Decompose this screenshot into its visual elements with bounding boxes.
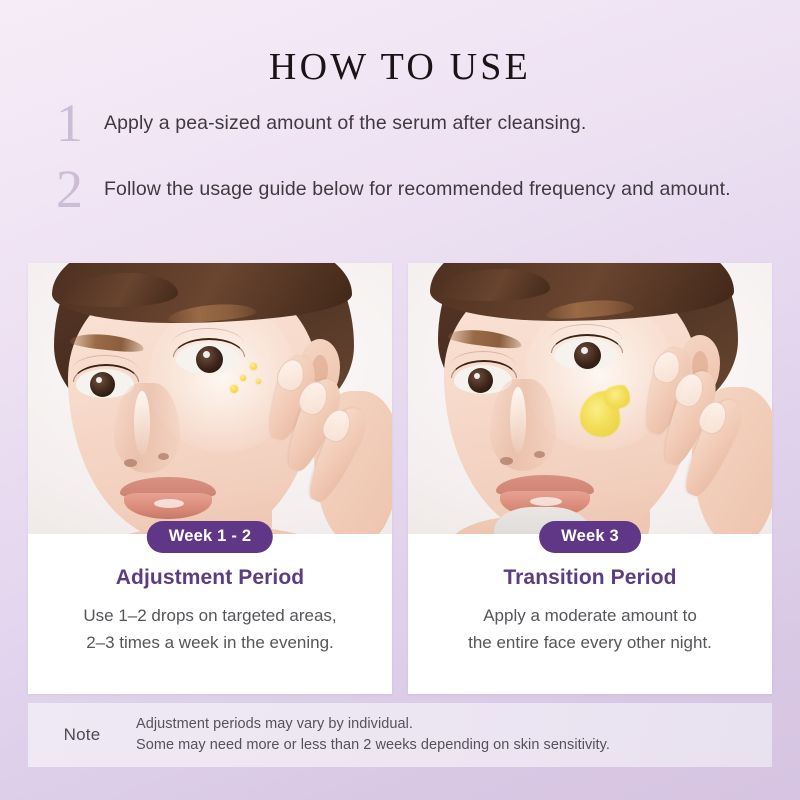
note-line: Adjustment periods may vary by individua… <box>136 714 754 735</box>
card-description-line: Use 1–2 drops on targeted areas, <box>46 602 374 629</box>
how-to-use-graphic: HOW TO USE 1 Apply a pea-sized amount of… <box>0 0 800 800</box>
card-photo-week-3 <box>408 263 772 534</box>
usage-cards: Week 1 - 2 Adjustment Period Use 1–2 dro… <box>28 263 772 694</box>
note-line: Some may need more or less than 2 weeks … <box>136 735 754 756</box>
card-heading: Transition Period <box>408 565 772 590</box>
hand <box>266 351 392 534</box>
header-section: HOW TO USE 1 Apply a pea-sized amount of… <box>0 0 800 263</box>
card-description-line: Apply a moderate amount to <box>426 602 754 629</box>
card-description: Apply a moderate amount to the entire fa… <box>408 602 772 656</box>
nostril <box>158 453 169 460</box>
serum-drop <box>240 375 246 381</box>
serum-drop <box>230 385 238 393</box>
card-description-line: 2–3 times a week in the evening. <box>46 629 374 656</box>
step-text: Follow the usage guide below for recomme… <box>104 174 756 205</box>
usage-card-week-3: Week 3 Transition Period Apply a moderat… <box>408 263 772 694</box>
serum-drop <box>250 363 257 370</box>
hand <box>644 347 772 534</box>
serum-drop <box>256 379 261 384</box>
nose-highlight <box>134 391 150 455</box>
photo-composition <box>28 263 392 534</box>
card-body-week-1-2: Adjustment Period Use 1–2 drops on targe… <box>28 534 392 694</box>
note-label: Note <box>28 725 136 745</box>
step-text: Apply a pea-sized amount of the serum af… <box>104 108 756 139</box>
usage-card-week-1-2: Week 1 - 2 Adjustment Period Use 1–2 dro… <box>28 263 392 694</box>
nose-highlight <box>510 387 526 453</box>
step-number: 2 <box>56 162 98 216</box>
badge-week-3: Week 3 <box>539 521 641 553</box>
page-title: HOW TO USE <box>0 48 800 86</box>
note-lines: Adjustment periods may vary by individua… <box>136 714 772 756</box>
card-heading: Adjustment Period <box>28 565 392 590</box>
card-body-week-3: Transition Period Apply a moderate amoun… <box>408 534 772 694</box>
photo-composition <box>408 263 772 534</box>
nostril <box>534 451 545 458</box>
step-item: 1 Apply a pea-sized amount of the serum … <box>56 108 756 156</box>
card-description: Use 1–2 drops on targeted areas, 2–3 tim… <box>28 602 392 656</box>
nostril <box>124 459 137 467</box>
nostril <box>500 457 513 465</box>
step-item: 2 Follow the usage guide below for recom… <box>56 174 756 222</box>
lip-highlight <box>154 499 184 508</box>
step-number: 1 <box>56 96 98 150</box>
note-panel: Note Adjustment periods may vary by indi… <box>28 703 772 767</box>
card-description-line: the entire face every other night. <box>426 629 754 656</box>
lip-highlight <box>530 497 562 506</box>
serum-blob-tail <box>604 385 630 409</box>
badge-week-1-2: Week 1 - 2 <box>147 521 273 553</box>
card-photo-week-1-2 <box>28 263 392 534</box>
steps-list: 1 Apply a pea-sized amount of the serum … <box>56 108 756 222</box>
